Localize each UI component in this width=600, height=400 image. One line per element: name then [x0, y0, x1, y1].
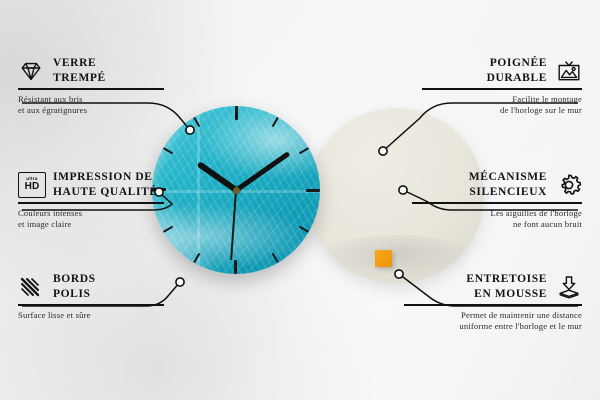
hd-label: HD	[25, 182, 40, 192]
polished-edges-icon	[18, 274, 44, 300]
callout-entretoise-en-mousse: ENTRETOISEEN MOUSSE Permet de maintenir …	[404, 272, 582, 333]
callout-description: Couleurs intenseset image claire	[18, 208, 164, 231]
callout-title: POIGNÉEDURABLE	[487, 56, 547, 85]
diamond-icon	[18, 58, 44, 84]
divider	[18, 304, 164, 306]
clock-face	[152, 106, 320, 274]
callout-mecanisme-silencieux: MÉCANISMESILENCIEUX Les aiguilles de l'h…	[412, 170, 582, 231]
callout-title: IMPRESSION DEHAUTE QUALITÉ	[53, 170, 158, 199]
divider	[18, 88, 164, 90]
ultra-hd-icon: ultra HD	[18, 172, 44, 198]
hour-marker	[235, 106, 237, 190]
foam-spacer-pad	[375, 250, 392, 267]
callout-bords-polis: BORDSPOLIS Surface lisse et sûre	[18, 272, 164, 321]
hour-marker	[236, 189, 320, 191]
wall-hanger-icon	[556, 58, 582, 84]
leader-dot-bords-polis	[176, 278, 184, 286]
callout-title: MÉCANISMESILENCIEUX	[469, 170, 547, 199]
divider	[18, 202, 164, 204]
callout-title: VERRETREMPÉ	[53, 56, 106, 85]
callout-title: ENTRETOISEEN MOUSSE	[466, 272, 547, 301]
product-infographic: VERRETREMPÉ Résistant aux briset aux égr…	[0, 0, 600, 400]
divider	[412, 202, 582, 204]
callout-description: Surface lisse et sûre	[18, 310, 164, 321]
callout-description: Résistant aux briset aux égratignures	[18, 94, 164, 117]
callout-description: Facilite le montagede l'horloge sur le m…	[422, 94, 582, 117]
hour-marker	[152, 189, 236, 191]
divider	[404, 304, 582, 306]
callout-impression-haute-qualite: ultra HD IMPRESSION DEHAUTE QUALITÉ Coul…	[18, 170, 164, 231]
callout-description: Permet de maintenir une distanceuniforme…	[404, 310, 582, 333]
callout-description: Les aiguilles de l'horlogene font aucun …	[412, 208, 582, 231]
hand-hub	[233, 187, 240, 194]
foam-spacer-icon	[556, 274, 582, 300]
gear-icon	[556, 172, 582, 198]
callout-verre-trempe: VERRETREMPÉ Résistant aux briset aux égr…	[18, 56, 164, 117]
divider	[422, 88, 582, 90]
callout-poignee-durable: POIGNÉEDURABLE Facilite le montagede l'h…	[422, 56, 582, 117]
callout-title: BORDSPOLIS	[53, 272, 96, 301]
